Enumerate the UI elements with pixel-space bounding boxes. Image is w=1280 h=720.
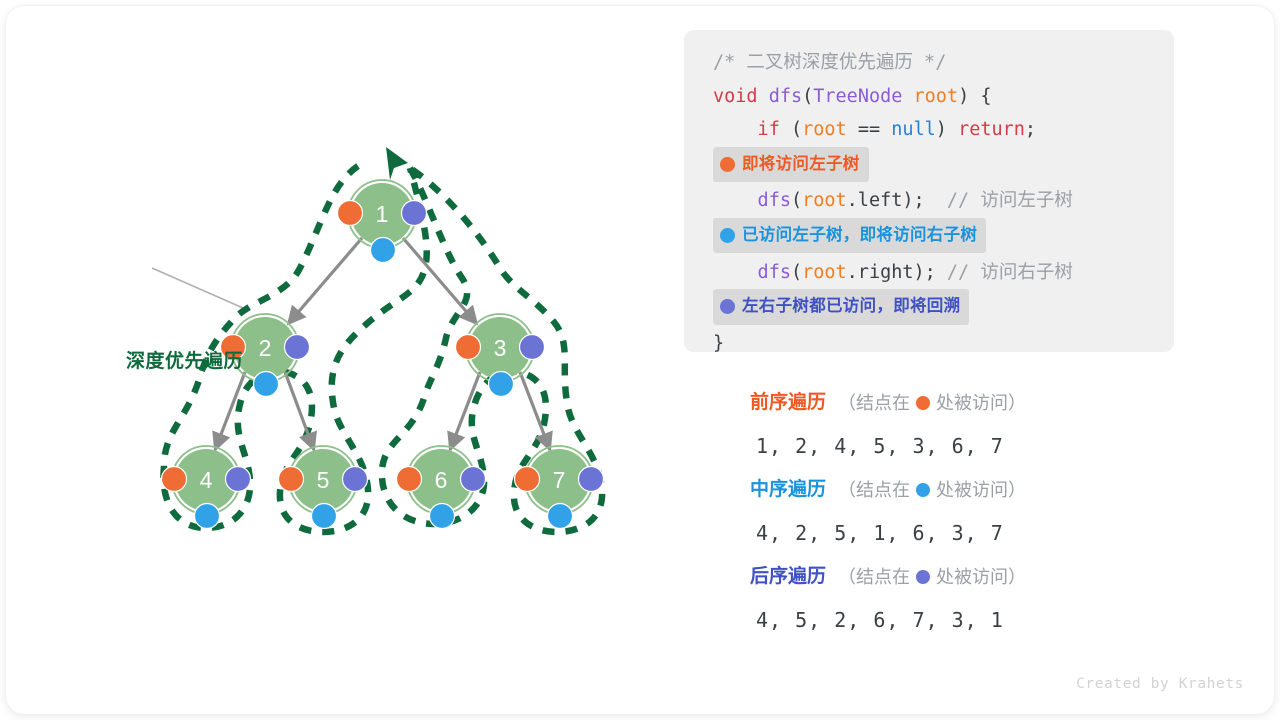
post-order-dot-node-2[interactable] [285,335,310,360]
in-order-dot-node-1[interactable] [371,238,396,263]
node-label: 5 [317,467,330,493]
traversal-note: （结点在处被访问） [838,383,1026,423]
code-lines: /* 二叉树深度优先遍历 */void dfs(TreeNode root) {… [684,46,1174,360]
traversal-note-right: 处被访问） [936,557,1026,597]
annotation-leader-line [152,268,243,308]
code-token: ( [791,262,802,283]
code-token: ) [936,119,958,140]
code-token: root [802,119,858,140]
code-token: } [713,333,724,354]
code-line-3: if (root == null) return; [684,113,1174,147]
post-order-dot-node-7[interactable] [579,467,604,492]
traversal-title: 后序遍历 [750,557,826,597]
code-annotation-line-8: 左右子树都已访问，即将回溯 [684,289,1174,327]
code-token: // 访问右子树 [947,262,1073,283]
credit-text: Created by Krahets [1076,676,1244,692]
post-order-dot-node-3[interactable] [520,335,545,360]
code-token: TreeNode [813,86,913,107]
post-order-dot-node-1[interactable] [402,201,427,226]
traversal-marker-dot-icon [916,570,930,584]
traversal-note-left: （结点在 [838,470,910,510]
tree-edge-1-2 [288,238,362,324]
annotation-text: 即将访问左子树 [742,148,860,182]
annotation-dot-icon [720,299,735,314]
code-annotation-line-6: 已访问左子树，即将访问右子树 [684,218,1174,256]
code-line-7: dfs(root.right); // 访问右子树 [684,256,1174,290]
traversal-note: （结点在处被访问） [838,470,1026,510]
annotation-badge: 左右子树都已访问，即将回溯 [713,289,969,325]
post-order-dot-node-5[interactable] [343,467,368,492]
annotation-text: 左右子树都已访问，即将回溯 [742,290,960,324]
annotation-dot-icon [720,157,735,172]
traversal-title: 前序遍历 [750,383,826,423]
traversal-results: 前序遍历（结点在处被访问）1, 2, 4, 5, 3, 6, 7中序遍历（结点在… [750,383,1190,644]
binary-tree-diagram: 深度优先遍历 [40,110,660,580]
post-order-dot-node-4[interactable] [226,467,251,492]
code-token: return [958,119,1025,140]
figure-root: 深度优先遍历 [0,0,1280,720]
pre-order-dot-node-4[interactable] [162,467,187,492]
traversal-sequence-3: 4, 5, 2, 6, 7, 3, 1 [750,597,1190,644]
annotation-badge: 即将访问左子树 [713,147,869,183]
code-token: root [914,86,959,107]
traversal-heading-3: 后序遍历（结点在处被访问） [750,557,1190,597]
traversal-note: （结点在处被访问） [838,557,1026,597]
code-token: // 访问左子树 [947,190,1073,211]
code-token: root [802,262,847,283]
traversal-title: 中序遍历 [750,470,826,510]
annotation-dot-icon [720,228,735,243]
traversal-note-left: （结点在 [838,557,910,597]
traversal-heading-1: 前序遍历（结点在处被访问） [750,383,1190,423]
node-label: 6 [435,467,448,493]
dfs-annotation-label: 深度优先遍历 [126,346,243,373]
annotation-badge: 已访问左子树，即将访问右子树 [713,218,986,254]
traversal-sequence-1: 1, 2, 4, 5, 3, 6, 7 [750,423,1190,470]
code-token: void [713,86,769,107]
code-block-card: /* 二叉树深度优先遍历 */void dfs(TreeNode root) {… [684,30,1174,352]
in-order-dot-node-2[interactable] [254,372,279,397]
node-label: 1 [376,201,389,227]
code-line-1: /* 二叉树深度优先遍历 */ [684,46,1174,80]
in-order-dot-node-6[interactable] [430,504,455,529]
node-label: 3 [494,335,507,361]
in-order-dot-node-7[interactable] [548,504,573,529]
post-order-dot-node-6[interactable] [461,467,486,492]
node-label: 7 [553,467,566,493]
code-token: ; [1025,119,1036,140]
in-order-dot-node-4[interactable] [195,504,220,529]
code-token: ( [791,190,802,211]
traversal-note-left: （结点在 [838,383,910,423]
code-line-2: void dfs(TreeNode root) { [684,80,1174,114]
pre-order-dot-node-6[interactable] [397,467,422,492]
pre-order-dot-node-1[interactable] [338,201,363,226]
tree-node-5[interactable]: 5 [279,446,368,529]
code-token: .right); [847,262,947,283]
code-token: null [891,119,936,140]
code-token: root [802,190,847,211]
traversal-start-play-icon [386,147,408,180]
code-token: dfs [713,190,791,211]
code-line-9: } [684,327,1174,361]
traversal-marker-dot-icon [916,483,930,497]
code-token: ( [791,119,802,140]
traversal-heading-2: 中序遍历（结点在处被访问） [750,470,1190,510]
pre-order-dot-node-5[interactable] [279,467,304,492]
code-token: dfs [713,262,791,283]
code-token: == [858,119,891,140]
code-token: ( [802,86,813,107]
code-token: ) { [958,86,991,107]
in-order-dot-node-3[interactable] [489,372,514,397]
tree-node-3[interactable]: 3 [456,314,545,397]
code-token: .left); [847,190,947,211]
code-token: if [713,119,791,140]
in-order-dot-node-5[interactable] [312,504,337,529]
code-token: /* 二叉树深度优先遍历 */ [713,52,946,73]
code-line-5: dfs(root.left); // 访问左子树 [684,184,1174,218]
traversal-note-right: 处被访问） [936,383,1026,423]
code-token: dfs [769,86,802,107]
traversal-sequence-2: 4, 2, 5, 1, 6, 3, 7 [750,510,1190,557]
code-annotation-line-4: 即将访问左子树 [684,147,1174,185]
pre-order-dot-node-3[interactable] [456,335,481,360]
annotation-text: 已访问左子树，即将访问右子树 [742,219,977,253]
node-label: 2 [259,335,272,361]
traversal-note-right: 处被访问） [936,470,1026,510]
tree-svg-canvas: 1234567 [40,110,660,580]
node-label: 4 [200,467,213,493]
traversal-marker-dot-icon [916,396,930,410]
pre-order-dot-node-7[interactable] [515,467,540,492]
